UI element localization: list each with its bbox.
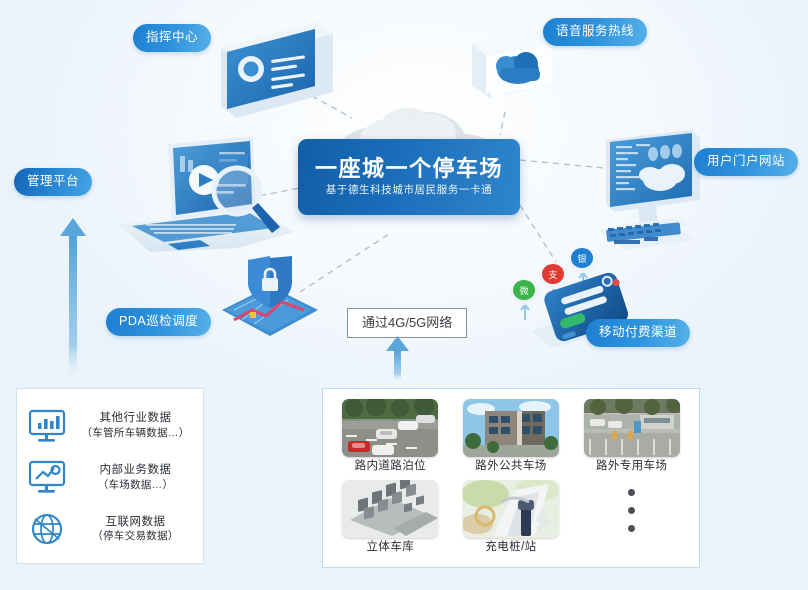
page-subtitle: 基于德生科技城市居民服务一卡通: [326, 185, 493, 196]
multi-level-garage-photo: [342, 480, 438, 538]
scenario-more-indicator: [576, 480, 687, 557]
label-management-platform-text: 管理平台: [27, 174, 79, 188]
gear-screen-icon: [205, 14, 340, 129]
dedicated-lot-photo: [584, 399, 680, 457]
laptop-play-icon: [88, 136, 308, 261]
ellipsis-dot: [628, 525, 635, 532]
scenario-caption: 路内道路泊位: [355, 461, 426, 473]
label-pda-dispatch-text: PDA巡检调度: [119, 314, 198, 328]
on-street-parking-photo: [342, 399, 438, 457]
data-sources-panel: 其他行业数据 （车管所车辆数据…） 内部业务数据 （车场数据…）: [16, 388, 204, 564]
public-garage-photo: [463, 399, 559, 457]
ellipsis-dot: [628, 507, 635, 514]
label-voice-hotline-text: 语音服务热线: [556, 24, 634, 38]
data-source-row[interactable]: 内部业务数据 （车场数据…）: [27, 458, 195, 496]
shield-lock-map-icon: [208, 254, 328, 340]
scenario-cell[interactable]: 路外专用车场: [576, 399, 687, 476]
scenario-caption: 充电桩/站: [485, 542, 536, 554]
data-source-row[interactable]: 其他行业数据 （车管所车辆数据…）: [27, 407, 195, 445]
scenario-cell[interactable]: 立体车库: [335, 480, 446, 557]
scenario-caption: 路外专用车场: [596, 461, 667, 473]
scenarios-panel: 路内道路泊位: [322, 388, 700, 568]
scenario-cell[interactable]: 充电桩/站: [456, 480, 567, 557]
label-network[interactable]: 通过4G/5G网络: [347, 308, 467, 338]
data-source-title: 内部业务数据: [100, 464, 172, 477]
scenario-cell[interactable]: 路内道路泊位: [335, 399, 446, 476]
svg-text:银: 银: [577, 253, 586, 264]
ev-charging-photo: [463, 480, 559, 538]
label-mobile-payment[interactable]: 移动付费渠道: [586, 319, 690, 347]
label-mobile-payment-text: 移动付费渠道: [599, 325, 677, 339]
label-management-platform[interactable]: 管理平台: [14, 168, 92, 196]
arrow-up-long: [58, 218, 88, 384]
label-user-portal[interactable]: 用户门户网站: [694, 148, 798, 176]
label-command-center[interactable]: 指挥中心: [133, 24, 211, 52]
label-command-center-text: 指挥中心: [146, 30, 198, 44]
infographic-canvas: 指挥中心 语音服务热线 一座城一个停车场 基于德生科技城市居: [0, 0, 808, 590]
scenario-cell[interactable]: 路外公共车场: [456, 399, 567, 476]
data-source-row[interactable]: 互联网数据 （停车交易数据）: [27, 510, 195, 548]
arrow-up-short: [385, 336, 411, 384]
monitor-bar-chart-icon: [27, 407, 67, 445]
data-source-detail: （停车交易数据）: [92, 531, 178, 543]
scenario-caption: 立体车库: [367, 542, 415, 554]
page-title: 一座城一个停车场: [315, 158, 503, 180]
label-user-portal-text: 用户门户网站: [707, 154, 785, 168]
label-voice-hotline[interactable]: 语音服务热线: [543, 18, 647, 46]
ellipsis-dot: [628, 489, 635, 496]
svg-text:支: 支: [548, 269, 557, 280]
data-source-detail: （车场数据…）: [98, 480, 174, 492]
label-network-text: 通过4G/5G网络: [362, 315, 452, 330]
scenario-caption: 路外公共车场: [475, 461, 546, 473]
svg-text:微: 微: [519, 285, 528, 296]
globe-network-icon: [27, 510, 67, 548]
data-source-title: 其他行业数据: [100, 412, 172, 425]
data-source-title: 互联网数据: [106, 516, 166, 529]
monitor-line-chart-icon: [27, 458, 67, 496]
label-pda-dispatch[interactable]: PDA巡检调度: [106, 308, 211, 336]
data-source-detail: （车管所车辆数据…）: [82, 428, 190, 440]
center-title-card: 一座城一个停车场 基于德生科技城市居民服务一卡通: [298, 139, 520, 215]
